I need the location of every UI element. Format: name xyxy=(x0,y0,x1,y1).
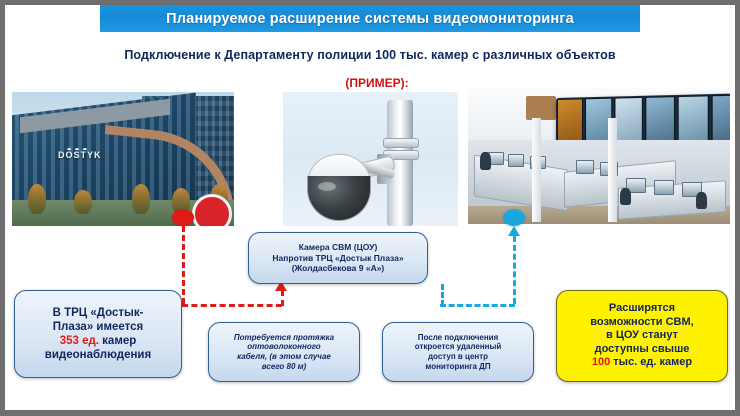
slide-canvas: Планируемое расширение системы видеомони… xyxy=(0,0,740,416)
cyan-connector-riser xyxy=(441,284,444,306)
monitor-icon xyxy=(576,160,594,174)
example-label-text: (ПРИМЕР): xyxy=(345,76,408,90)
frame-border-bottom xyxy=(0,410,740,416)
subtitle-highlight: 100 тыс. xyxy=(375,48,427,62)
mall-count-suffix: камер xyxy=(99,335,136,347)
mall-camera-count-value: 353 ед. xyxy=(60,335,99,347)
tree-icon xyxy=(28,184,46,214)
subtitle-before: Подключение к Департаменту полиции xyxy=(124,48,375,62)
cable-line-3: кабеля, (в этом случае xyxy=(234,352,334,362)
expansion-line-3: в ЦОУ станут xyxy=(590,329,693,342)
operator-figure xyxy=(480,152,491,170)
red-connector-horizontal xyxy=(182,304,282,307)
camera-info-line-3: (Жолдасбекова 9 «А») xyxy=(272,263,403,273)
cable-line-1: Потребуется протяжка xyxy=(234,333,334,343)
callout-mall-camera-count[interactable]: В ТРЦ «Достык- Плаза» имеется 353 ед. ка… xyxy=(14,290,182,378)
expansion-count-suffix: тыс. ед. камер xyxy=(610,356,692,368)
cyan-arrow-icon xyxy=(508,226,520,236)
callout-system-expansion-text: Расширятся возможности СВМ, в ЦОУ станут… xyxy=(584,299,699,372)
mall-count-line-3: 353 ед. камер xyxy=(45,334,151,348)
access-line-2: откроется удаленный xyxy=(415,342,502,352)
monitor-icon xyxy=(508,154,524,167)
callout-camera-info-text: Камера СВМ (ЦОУ) Напротив ТРЦ «Достык Пл… xyxy=(266,239,409,276)
mall-count-line-1: В ТРЦ «Достык- xyxy=(45,306,151,320)
callout-fiber-cable-text: Потребуется протяжка оптоволоконного каб… xyxy=(228,330,340,375)
monitor-icon xyxy=(654,180,674,195)
room-column xyxy=(532,118,541,222)
callout-system-expansion[interactable]: Расширятся возможности СВМ, в ЦОУ станут… xyxy=(556,290,728,382)
mall-count-line-2: Плаза» имеется xyxy=(45,320,151,334)
tree-icon xyxy=(132,184,150,214)
callout-remote-access-text: После подключения откроется удаленный до… xyxy=(409,330,508,375)
expansion-line-2: возможности СВМ, xyxy=(590,316,693,329)
expansion-line-4: доступны свыше xyxy=(590,343,693,356)
red-connector-riser xyxy=(281,290,284,306)
tree-icon xyxy=(74,190,92,214)
mall-count-line-4: видеонаблюдения xyxy=(45,348,151,362)
callout-camera-info[interactable]: Камера СВМ (ЦОУ) Напротив ТРЦ «Достык Пл… xyxy=(248,232,428,284)
camera-sky xyxy=(283,92,458,226)
access-line-1: После подключения xyxy=(415,333,502,343)
photo-monitoring-center xyxy=(468,88,730,224)
camera-info-line-2: Напротив ТРЦ «Достык Плаза» xyxy=(272,253,403,263)
red-connector-vertical xyxy=(182,226,185,304)
slide-title-bar: Планируемое расширение системы видеомони… xyxy=(100,5,640,32)
operator-figure xyxy=(696,192,707,209)
expansion-count-value: 100 xyxy=(592,356,610,368)
photo-ptz-dome-camera xyxy=(283,92,458,226)
subtitle-after: камер с различных объектов xyxy=(427,48,615,62)
frame-border-left xyxy=(0,0,5,416)
frame-border-right xyxy=(735,0,740,416)
slide-subtitle: Подключение к Департаменту полиции 100 т… xyxy=(0,48,740,62)
cable-line-2: оптоволоконного xyxy=(234,342,334,352)
stop-sign-icon xyxy=(192,194,232,226)
cable-line-4: всего 80 м) xyxy=(234,362,334,372)
callout-fiber-cable[interactable]: Потребуется протяжка оптоволоконного каб… xyxy=(208,322,360,382)
callout-mall-camera-count-text: В ТРЦ «Достык- Плаза» имеется 353 ед. ка… xyxy=(39,303,157,365)
mall-logo-text: DOSTYK xyxy=(58,150,102,160)
cyan-connector-vertical xyxy=(513,236,516,304)
expansion-line-5: 100 тыс. ед. камер xyxy=(590,356,693,369)
page-title: Планируемое расширение системы видеомони… xyxy=(166,11,574,27)
camera-pole-clamp xyxy=(383,138,419,148)
control-room-wall-panel xyxy=(526,96,556,120)
callout-remote-access[interactable]: После подключения откроется удаленный до… xyxy=(382,322,534,382)
cyan-marker-node xyxy=(503,209,525,226)
red-marker-node xyxy=(172,209,194,226)
mall-crown-emblem xyxy=(64,140,90,150)
operator-figure xyxy=(620,188,631,205)
cyan-connector-horizontal xyxy=(440,304,515,307)
photo-dostyk-plaza-mall: DOSTYK xyxy=(12,92,234,226)
expansion-line-1: Расширятся xyxy=(590,302,693,315)
camera-info-line-1: Камера СВМ (ЦОУ) xyxy=(272,242,403,252)
access-line-4: мониторинга ДП xyxy=(415,362,502,372)
room-column xyxy=(608,118,617,222)
access-line-3: доступ в центр xyxy=(415,352,502,362)
